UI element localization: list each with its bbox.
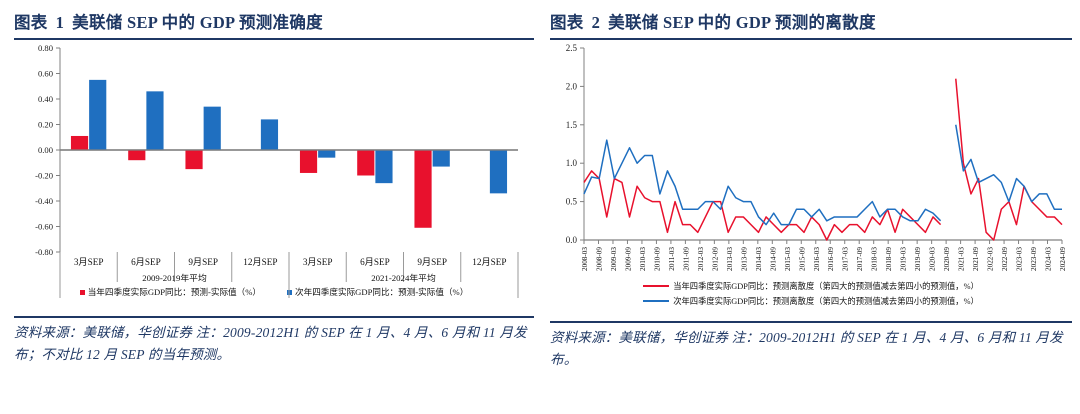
svg-text:6月SEP: 6月SEP	[360, 257, 390, 267]
svg-text:0.40: 0.40	[38, 94, 53, 104]
figure-2-title-number: 2	[592, 13, 601, 33]
svg-text:2023-03: 2023-03	[1016, 247, 1024, 271]
figure-1-title-text: 美联储 SEP 中的 GDP 预测准确度	[72, 9, 323, 33]
svg-text:2021-03: 2021-03	[958, 247, 966, 271]
svg-text:2020-09: 2020-09	[943, 247, 951, 271]
figures-page: 图表 1 美联储 SEP 中的 GDP 预测准确度 -0.80-0.60-0.4…	[0, 0, 1080, 414]
svg-text:2013-03: 2013-03	[726, 247, 734, 271]
svg-text:2024-03: 2024-03	[1045, 247, 1053, 271]
figure-panel-2: 图表 2 美联储 SEP 中的 GDP 预测的离散度 0.00.51.01.52…	[540, 0, 1080, 414]
svg-text:2.5: 2.5	[566, 43, 578, 53]
figure-1-title-number: 1	[56, 13, 65, 33]
svg-text:2.0: 2.0	[566, 81, 578, 91]
svg-text:2018-03: 2018-03	[871, 247, 879, 271]
svg-text:12月SEP: 12月SEP	[243, 257, 277, 267]
svg-text:0.80: 0.80	[38, 43, 53, 53]
svg-text:12月SEP: 12月SEP	[472, 257, 506, 267]
svg-text:2019-09: 2019-09	[914, 247, 922, 271]
svg-text:1.5: 1.5	[566, 120, 578, 130]
line-chart-svg: 0.00.51.01.52.02.52008-032008-092009-032…	[550, 40, 1068, 330]
svg-text:2020-03: 2020-03	[929, 247, 937, 271]
figure-1-title: 图表 1 美联储 SEP 中的 GDP 预测准确度	[14, 0, 534, 33]
svg-text:2022-03: 2022-03	[987, 247, 995, 271]
svg-text:0.5: 0.5	[566, 197, 578, 207]
svg-text:2016-03: 2016-03	[813, 247, 821, 271]
svg-text:2011-03: 2011-03	[668, 247, 676, 271]
bar-chart-svg: -0.80-0.60-0.40-0.200.000.200.400.600.80…	[14, 40, 526, 330]
svg-text:-0.40: -0.40	[35, 196, 53, 206]
svg-text:2012-09: 2012-09	[711, 247, 719, 271]
svg-text:2009-2019年平均: 2009-2019年平均	[142, 272, 207, 283]
svg-text:2021-09: 2021-09	[972, 247, 980, 271]
figure-2-title-prefix: 图表	[550, 9, 584, 33]
svg-text:2014-03: 2014-03	[755, 247, 763, 271]
svg-text:0.00: 0.00	[38, 145, 53, 155]
figure-2-title: 图表 2 美联储 SEP 中的 GDP 预测的离散度	[550, 0, 1072, 33]
svg-text:2015-03: 2015-03	[784, 247, 792, 271]
svg-text:-0.20: -0.20	[35, 171, 53, 181]
svg-text:0.20: 0.20	[38, 120, 53, 130]
svg-text:2017-09: 2017-09	[856, 247, 864, 271]
figure-1-chart: -0.80-0.60-0.40-0.200.000.200.400.600.80…	[14, 40, 534, 330]
svg-text:9月SEP: 9月SEP	[188, 257, 218, 267]
svg-text:2010-03: 2010-03	[639, 247, 647, 271]
svg-text:2012-03: 2012-03	[697, 247, 705, 271]
svg-text:2015-09: 2015-09	[798, 247, 806, 271]
svg-text:2022-09: 2022-09	[1001, 247, 1009, 271]
svg-text:2009-09: 2009-09	[624, 247, 632, 271]
svg-text:2008-03: 2008-03	[581, 247, 589, 271]
svg-text:2023-09: 2023-09	[1030, 247, 1038, 271]
figure-panel-1: 图表 1 美联储 SEP 中的 GDP 预测准确度 -0.80-0.60-0.4…	[0, 0, 540, 414]
figure-2-footnote: 资料来源：美联储，华创证券 注：2009-2012H1 的 SEP 在 1 月、…	[550, 323, 1072, 371]
svg-text:2010-09: 2010-09	[653, 247, 661, 271]
svg-text:2019-03: 2019-03	[900, 247, 908, 271]
svg-text:3月SEP: 3月SEP	[74, 257, 104, 267]
svg-text:1.0: 1.0	[566, 158, 578, 168]
svg-text:-0.60: -0.60	[35, 222, 53, 232]
svg-text:2017-03: 2017-03	[842, 247, 850, 271]
svg-text:2024-09: 2024-09	[1059, 247, 1067, 271]
svg-text:-0.80: -0.80	[35, 247, 53, 257]
svg-text:2013-09: 2013-09	[740, 247, 748, 271]
svg-text:2009-03: 2009-03	[610, 247, 618, 271]
svg-text:9月SEP: 9月SEP	[417, 257, 447, 267]
svg-text:2011-09: 2011-09	[682, 247, 690, 271]
svg-text:0.0: 0.0	[566, 235, 578, 245]
svg-text:3月SEP: 3月SEP	[303, 257, 333, 267]
svg-text:2021-2024年平均: 2021-2024年平均	[371, 272, 436, 283]
svg-text:0.60: 0.60	[38, 69, 53, 79]
figure-1-title-prefix: 图表	[14, 9, 48, 33]
svg-text:2014-09: 2014-09	[769, 247, 777, 271]
svg-text:2008-09: 2008-09	[595, 247, 603, 271]
svg-text:2018-09: 2018-09	[885, 247, 893, 271]
figure-2-chart: 0.00.51.01.52.02.52008-032008-092009-032…	[550, 40, 1072, 330]
figure-2-title-text: 美联储 SEP 中的 GDP 预测的离散度	[608, 9, 876, 33]
svg-text:6月SEP: 6月SEP	[131, 257, 161, 267]
svg-text:2016-09: 2016-09	[827, 247, 835, 271]
